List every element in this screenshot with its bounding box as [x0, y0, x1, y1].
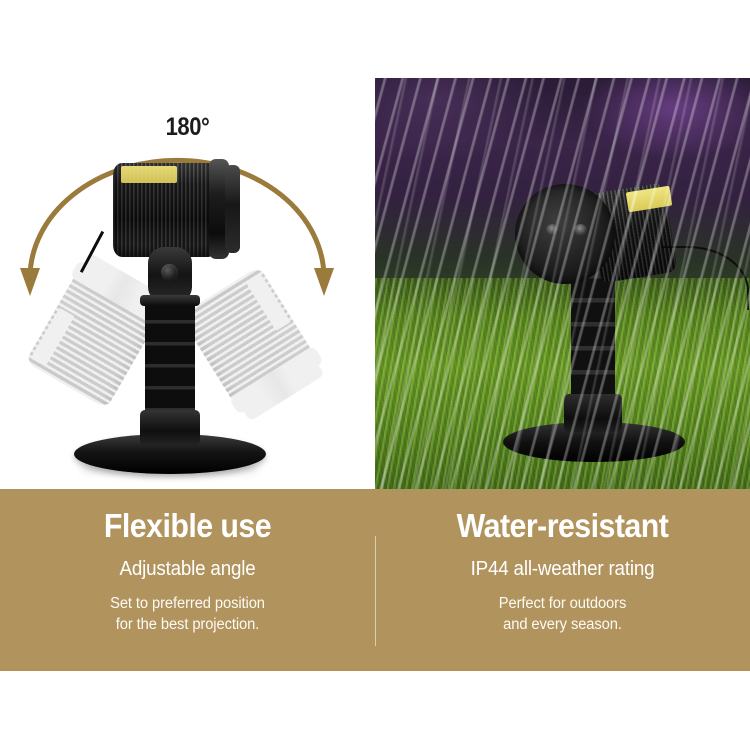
flexible-use-panel: 180° [0, 0, 375, 489]
feature-description-line1: Set to preferred position [9, 594, 365, 615]
feature-subtitle: Adjustable angle [11, 558, 364, 580]
feature-description-line1: Perfect for outdoors [384, 594, 740, 615]
product-label-sticker [121, 166, 177, 183]
projector-head [113, 157, 241, 261]
ground-stake-stem [145, 298, 195, 414]
water-resistant-photo [375, 78, 750, 489]
outdoor-stake-stem [571, 274, 615, 408]
feature-subtitle: IP44 all-weather rating [386, 558, 739, 580]
projector-lamp-icon [0, 0, 375, 489]
feature-description-line2: and every season. [384, 615, 740, 636]
stem-hub [140, 410, 200, 445]
bottom-white-strip [0, 671, 750, 750]
column-divider [375, 536, 376, 646]
adjustment-screw-icon [161, 264, 178, 281]
stem-collar [140, 295, 200, 306]
feature-column-water-resistant: Water-resistant IP44 all-weather rating … [375, 489, 750, 635]
outdoor-stem-hub [564, 394, 622, 432]
feature-column-flexible-use: Flexible use Adjustable angle Set to pre… [0, 489, 375, 635]
feature-description-line2: for the best projection. [9, 615, 365, 636]
feature-title: Water-resistant [390, 509, 735, 544]
product-feature-banner: 180° [0, 0, 750, 750]
projector-ghost-right-icon [176, 263, 332, 427]
feature-title: Flexible use [15, 509, 360, 544]
